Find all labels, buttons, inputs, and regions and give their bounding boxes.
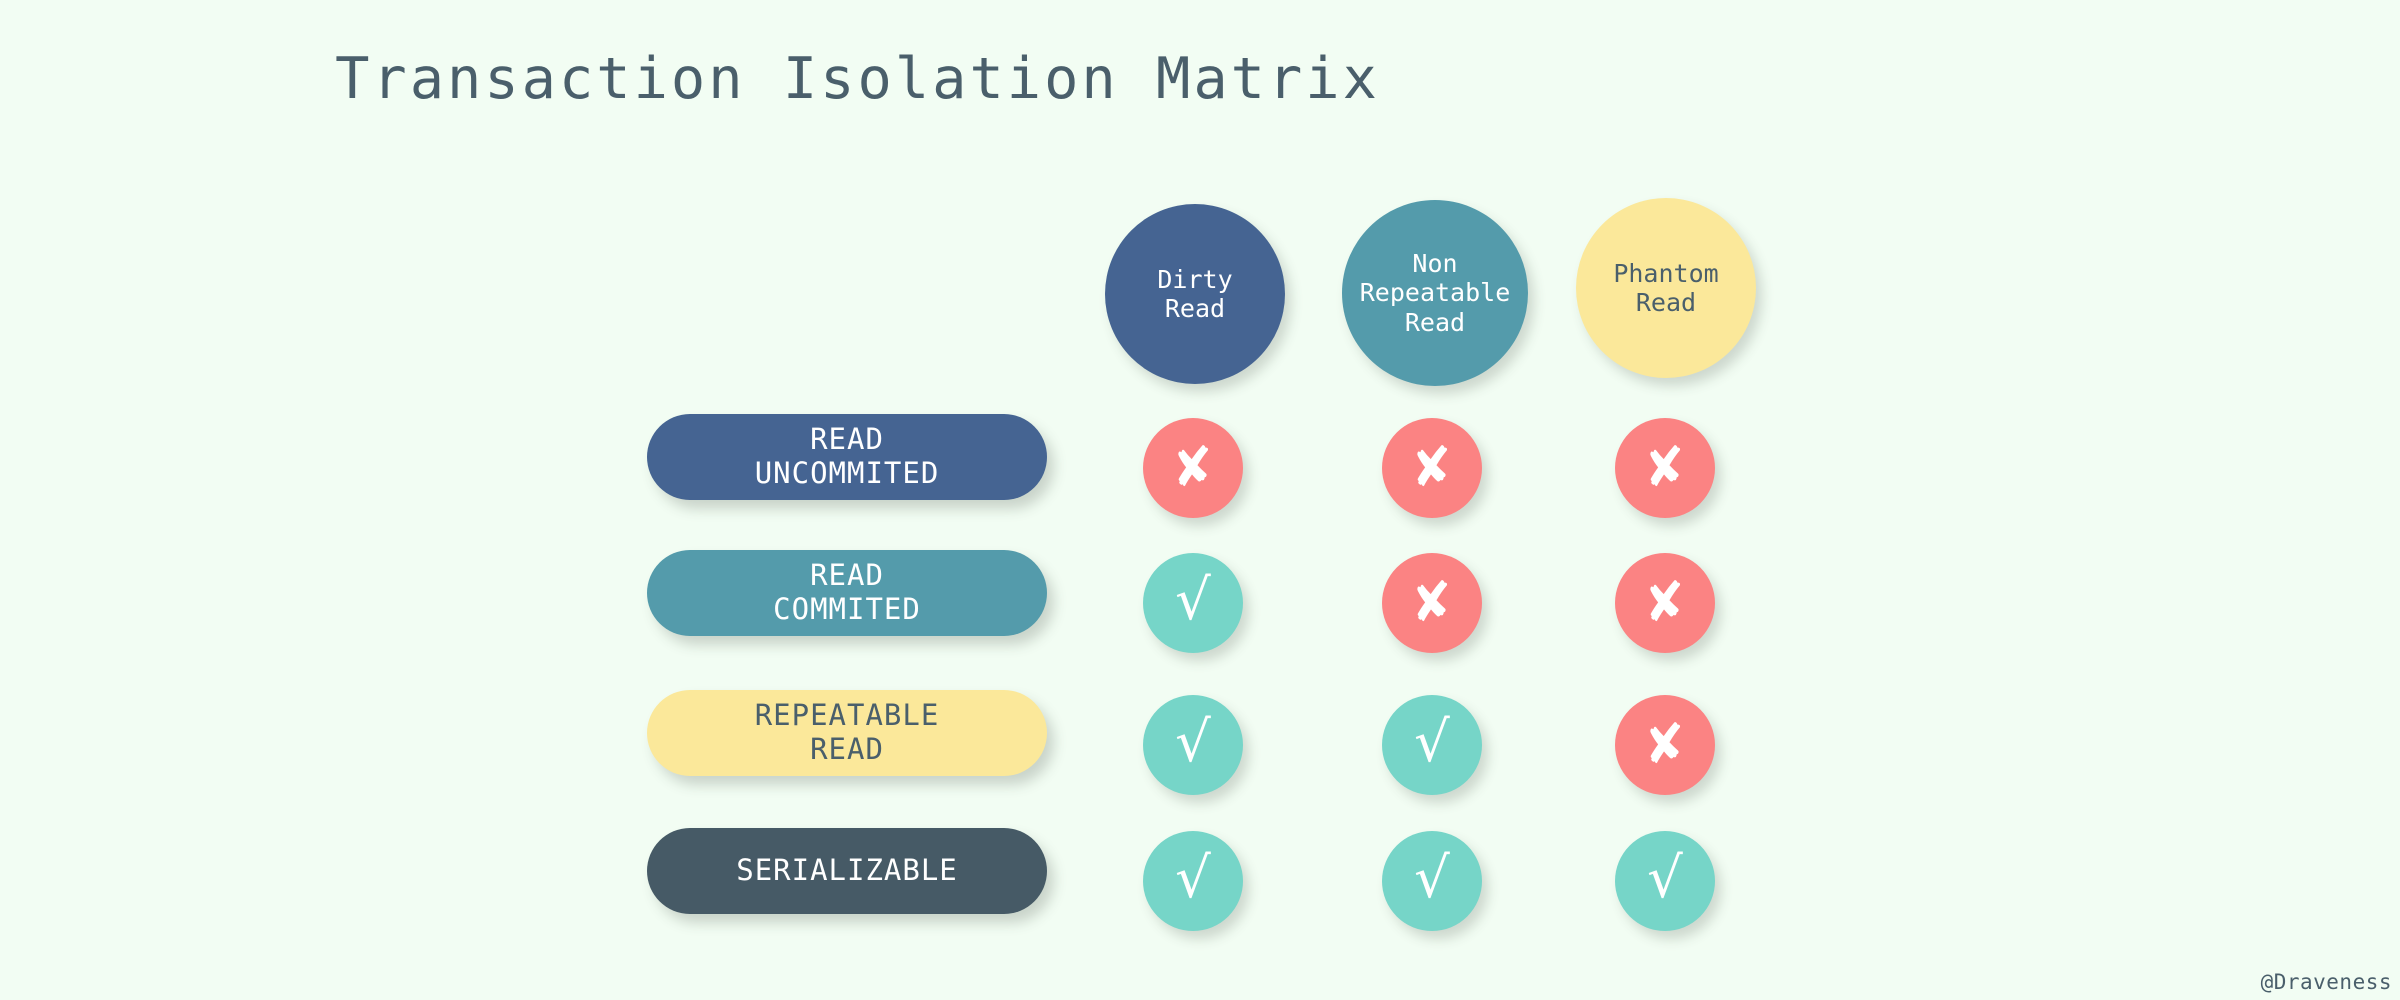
checkmark-icon: √ — [1414, 715, 1450, 771]
row-label-read-uncommited: READ UNCOMMITED — [647, 414, 1047, 500]
matrix-cell-repeatable-read-phantom-read: ✘ — [1615, 695, 1715, 795]
column-header-phantom-read: Phantom Read — [1576, 198, 1756, 378]
checkmark-icon: √ — [1414, 851, 1450, 907]
matrix-cell-read-uncommited-non-repeatable-read: ✘ — [1382, 418, 1482, 518]
matrix-cell-read-commited-non-repeatable-read: ✘ — [1382, 553, 1482, 653]
matrix-cell-read-commited-phantom-read: ✘ — [1615, 553, 1715, 653]
checkmark-icon: √ — [1175, 851, 1211, 907]
row-label-repeatable-read: REPEATABLE READ — [647, 690, 1047, 776]
row-label-read-commited: READ COMMITED — [647, 550, 1047, 636]
column-header-label: Dirty Read — [1157, 265, 1232, 324]
matrix-cell-serializable-non-repeatable-read: √ — [1382, 831, 1482, 931]
cross-icon: ✘ — [1640, 575, 1690, 632]
checkmark-icon: √ — [1175, 573, 1211, 629]
cross-icon: ✘ — [1407, 440, 1457, 497]
column-header-label: Non Repeatable Read — [1360, 249, 1511, 338]
cross-icon: ✘ — [1168, 440, 1218, 497]
row-label-text: REPEATABLE READ — [755, 699, 940, 766]
row-label-text: READ COMMITED — [773, 559, 921, 626]
diagram-canvas: Transaction Isolation Matrix Dirty Read … — [0, 0, 2400, 1000]
matrix-cell-read-uncommited-phantom-read: ✘ — [1615, 418, 1715, 518]
row-label-text: SERIALIZABLE — [736, 854, 958, 888]
watermark: @Draveness — [2261, 970, 2392, 994]
matrix-cell-repeatable-read-non-repeatable-read: √ — [1382, 695, 1482, 795]
row-label-text: READ UNCOMMITED — [755, 423, 940, 490]
matrix-cell-read-commited-dirty-read: √ — [1143, 553, 1243, 653]
cross-icon: ✘ — [1640, 717, 1690, 774]
cross-icon: ✘ — [1407, 575, 1457, 632]
column-header-dirty-read: Dirty Read — [1105, 204, 1285, 384]
column-header-non-repeatable-read: Non Repeatable Read — [1342, 200, 1528, 386]
matrix-cell-repeatable-read-dirty-read: √ — [1143, 695, 1243, 795]
column-header-label: Phantom Read — [1613, 259, 1718, 318]
matrix-cell-serializable-dirty-read: √ — [1143, 831, 1243, 931]
page-title: Transaction Isolation Matrix — [0, 46, 1715, 112]
row-label-serializable: SERIALIZABLE — [647, 828, 1047, 914]
matrix-cell-read-uncommited-dirty-read: ✘ — [1143, 418, 1243, 518]
cross-icon: ✘ — [1640, 440, 1690, 497]
checkmark-icon: √ — [1175, 715, 1211, 771]
matrix-cell-serializable-phantom-read: √ — [1615, 831, 1715, 931]
checkmark-icon: √ — [1647, 851, 1683, 907]
